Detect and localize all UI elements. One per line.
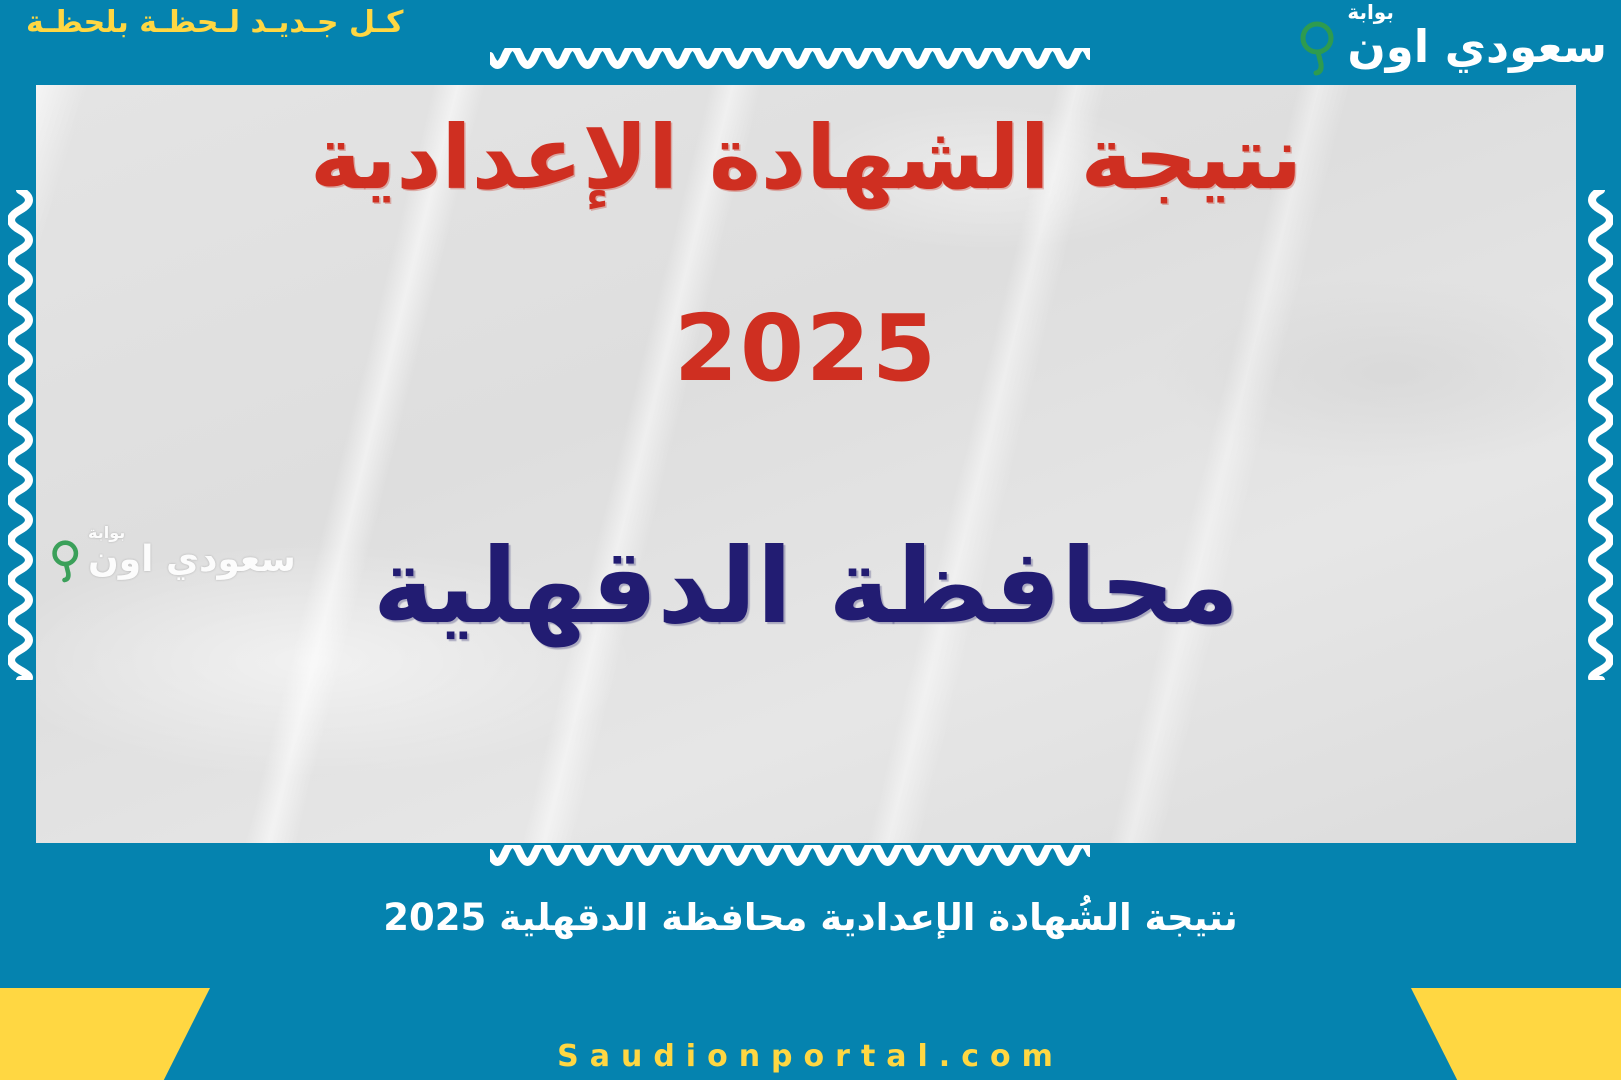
- footer-website-url[interactable]: Saudionportal.com: [0, 1039, 1621, 1074]
- poster-image-frame: نتيجة الشهادة الإعدادية 2025 محافظة الدق…: [18, 45, 1603, 875]
- photo-year: 2025: [36, 295, 1576, 402]
- photo-watermark-text: بوابة سعودي اون: [88, 525, 296, 579]
- photo-headline: نتيجة الشهادة الإعدادية: [36, 103, 1576, 213]
- magnifier-icon: [1297, 20, 1339, 80]
- photo-watermark-title: سعودي اون: [88, 541, 296, 579]
- site-logo-text: بوابة سعودي اون: [1347, 2, 1607, 70]
- photo-watermark-logo: بوابة سعودي اون: [50, 525, 296, 587]
- site-logo-title: سعودي اون: [1347, 23, 1607, 70]
- zigzag-divider-right: [1583, 190, 1613, 680]
- poster-root: كـل جـديـد لـحظـة بلحظـة بوابة سعودي اون…: [0, 0, 1621, 1080]
- site-tagline: كـل جـديـد لـحظـة بلحظـة: [26, 4, 403, 42]
- poster-photo: نتيجة الشهادة الإعدادية 2025 محافظة الدق…: [36, 85, 1576, 843]
- site-logo[interactable]: بوابة سعودي اون: [1297, 2, 1607, 80]
- site-logo-subtitle: بوابة: [1347, 2, 1394, 22]
- poster-caption: نتيجة الشُهادة الإعدادية محافظة الدقهلية…: [0, 896, 1621, 939]
- zigzag-divider-bottom: [490, 845, 1090, 875]
- zigzag-divider-left: [8, 190, 38, 680]
- top-bar: كـل جـديـد لـحظـة بلحظـة بوابة سعودي اون: [0, 0, 1621, 78]
- magnifier-icon: [50, 539, 82, 587]
